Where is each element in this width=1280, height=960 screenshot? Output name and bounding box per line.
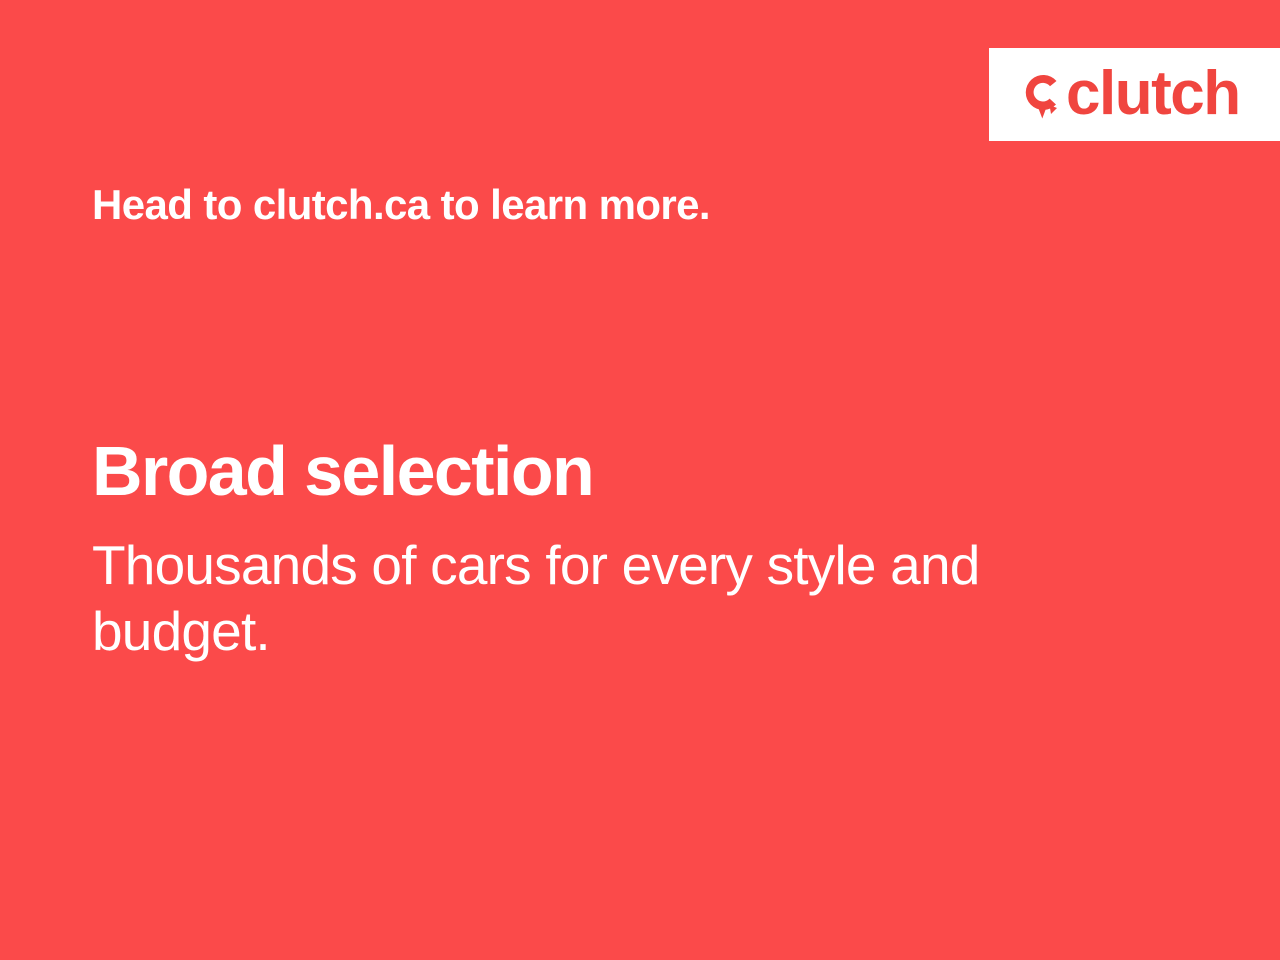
clutch-wordmark: clutch [1066, 63, 1240, 125]
clutch-logo-lockup[interactable]: clutch [1020, 64, 1240, 126]
main-copy-block: Broad selection Thousands of cars for ev… [92, 436, 1142, 664]
page-title: Broad selection [92, 436, 1142, 506]
subheadline-text: Thousands of cars for every style and bu… [92, 532, 1022, 664]
slide-canvas: clutch Head to clutch.ca to learn more. … [0, 0, 1280, 960]
clutch-mark-icon [1020, 70, 1064, 122]
clutch-logo-plate[interactable]: clutch [989, 48, 1280, 141]
cta-eyebrow-text: Head to clutch.ca to learn more. [92, 182, 710, 228]
